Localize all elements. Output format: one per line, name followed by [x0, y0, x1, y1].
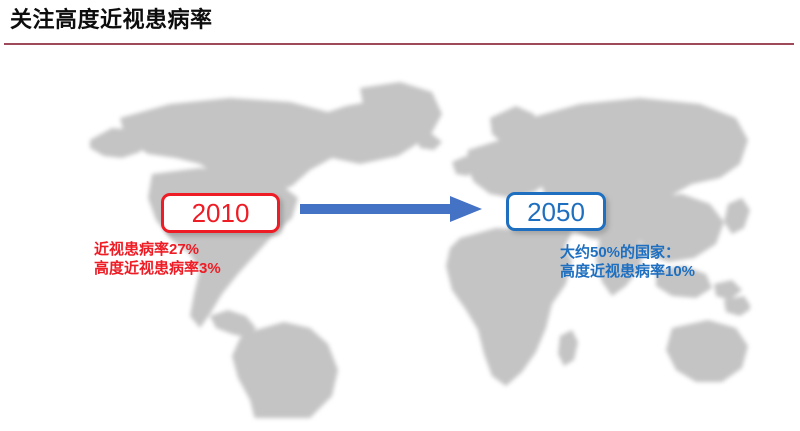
callout-2050-line-1: 大约50%的国家：: [560, 243, 695, 262]
year-badge-2050[interactable]: 2050: [506, 192, 606, 231]
callout-2010-line-1: 近视患病率27%: [94, 240, 221, 259]
year-badge-2010[interactable]: 2010: [161, 193, 280, 233]
callout-2010: 近视患病率27% 高度近视患病率3%: [94, 240, 221, 278]
slide: 关注高度近视患病率: [0, 0, 800, 431]
right-arrow-icon: [300, 196, 482, 222]
callout-2010-line-2: 高度近视患病率3%: [94, 259, 221, 278]
page-title: 关注高度近视患病率: [10, 5, 213, 35]
title-divider: [4, 43, 794, 45]
right-arrow: [300, 196, 482, 222]
callout-2050: 大约50%的国家： 高度近视患病率10%: [560, 243, 695, 281]
callout-2050-line-2: 高度近视患病率10%: [560, 262, 695, 281]
